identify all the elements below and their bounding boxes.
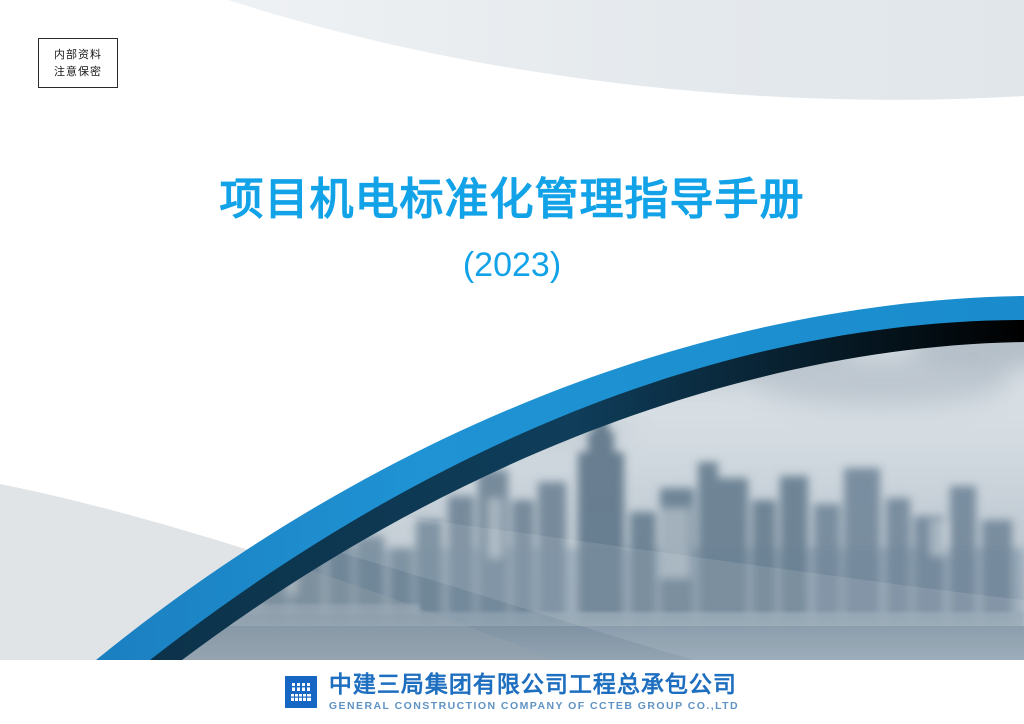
title-block: 项目机电标准化管理指导手册 (2023) (0, 172, 1024, 288)
internal-confidential-stamp: 内部资料 注意保密 (38, 38, 118, 88)
cover-artwork (0, 0, 1024, 724)
footer-inner: 中建三局集团有限公司工程总承包公司 GENERAL CONSTRUCTION C… (285, 672, 739, 713)
page-title: 项目机电标准化管理指导手册 (0, 172, 1024, 228)
confidential-line-1: 内部资料 (54, 46, 102, 63)
cctteb-logo-icon (285, 676, 317, 708)
company-name-cn: 中建三局集团有限公司工程总承包公司 (329, 672, 737, 698)
confidential-line-2: 注意保密 (54, 63, 102, 80)
page-subtitle-year: (2023) (0, 242, 1024, 288)
footer-company-bar: 中建三局集团有限公司工程总承包公司 GENERAL CONSTRUCTION C… (0, 660, 1024, 724)
footer-text-group: 中建三局集团有限公司工程总承包公司 GENERAL CONSTRUCTION C… (329, 672, 739, 713)
cover-slide: 内部资料 注意保密 项目机电标准化管理指导手册 (2023) (0, 0, 1024, 724)
company-name-en: GENERAL CONSTRUCTION COMPANY OF CCTEB GR… (329, 699, 739, 713)
